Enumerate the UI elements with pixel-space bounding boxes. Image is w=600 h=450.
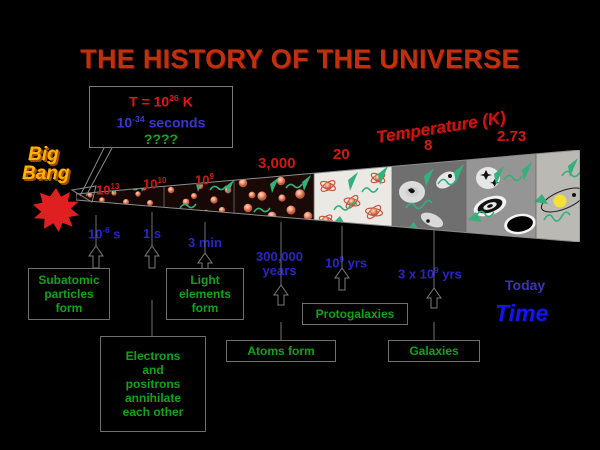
caption-line: annihilate — [123, 391, 184, 405]
time-pre: 10 — [88, 226, 102, 241]
callout-time-exponent: -34 — [132, 114, 145, 124]
caption-subatomic-particles-form: Subatomic particles form — [28, 268, 110, 320]
temp-base: 10 — [195, 172, 209, 187]
time-post: yrs — [344, 255, 367, 270]
temp-exp: 10 — [157, 176, 166, 185]
callout-temp-suffix: K — [179, 94, 193, 110]
caption-line: elements — [179, 287, 231, 301]
time-post: yrs — [439, 266, 462, 281]
caption-line: Light — [179, 273, 231, 287]
temperature-label-1e10: 1010 — [143, 176, 166, 191]
slide-canvas: THE HISTORY OF THE UNIVERSE Temperature … — [0, 0, 600, 450]
temp-base: 10 — [143, 176, 157, 191]
today-label: Today — [505, 277, 545, 293]
caption-line: form — [179, 301, 231, 315]
big-bang-line2: Bang — [22, 163, 70, 185]
callout-box: T = 1026 K 10-34 seconds ???? — [89, 86, 233, 148]
caption-line: and — [123, 363, 184, 377]
callout-temp-exponent: 26 — [169, 93, 179, 103]
caption-protogalaxies: Protogalaxies — [302, 303, 408, 325]
caption-line: Subatomic — [38, 273, 99, 287]
time-label-1e9-yrs: 109 yrs — [325, 255, 367, 270]
caption-line: Electrons — [123, 349, 184, 363]
temperature-axis-label: Temperature (K) — [375, 108, 507, 148]
cone-panel-particle-soup-mid — [164, 150, 234, 242]
temperature-label-1e13: 1013 — [96, 182, 119, 197]
caption-atoms-form: Atoms form — [226, 340, 336, 362]
time-pre: 3 x 10 — [398, 266, 434, 281]
time-label-1e-6s: 10-6 s — [88, 226, 120, 241]
time-axis-label: Time — [495, 300, 548, 327]
caption-line: each other — [123, 405, 184, 419]
time-label-3min: 3 min — [188, 235, 222, 250]
time-post: s — [110, 226, 121, 241]
time-label-3x1e9-yrs: 3 x 109 yrs — [398, 266, 462, 281]
temperature-label-3000: 3,000 — [258, 155, 296, 172]
temp-base: 10 — [96, 182, 110, 197]
callout-time-suffix: seconds — [145, 114, 206, 130]
time-exp: -6 — [102, 226, 109, 235]
caption-line: positrons — [123, 377, 184, 391]
caption-galaxies: Galaxies — [388, 340, 480, 362]
time-post: years — [256, 264, 303, 278]
caption-electrons-positrons-annihilate: Electrons and positrons annihilate each … — [100, 336, 206, 432]
temperature-label-1e9: 109 — [195, 172, 214, 187]
temp-exp: 13 — [110, 182, 119, 191]
temperature-label-8: 8 — [424, 137, 432, 154]
time-pre: 10 — [325, 255, 339, 270]
caption-light-elements-form: Light elements form — [166, 268, 244, 320]
caption-line: form — [38, 301, 99, 315]
time-label-300000-years: 300,000 years — [256, 250, 303, 278]
caption-line: particles — [38, 287, 99, 301]
callout-time-prefix: 10 — [117, 114, 133, 130]
callout-temp-prefix: T = 10 — [129, 94, 169, 110]
time-pre: 300,000 — [256, 250, 303, 264]
time-label-1s: 1 s — [143, 226, 161, 241]
temp-exp: 9 — [209, 172, 213, 181]
callout-temperature: T = 1026 K — [90, 90, 232, 111]
temperature-label-20: 20 — [333, 146, 350, 163]
callout-time: 10-34 seconds — [90, 111, 232, 132]
callout-unknown: ???? — [90, 131, 232, 148]
page-title: THE HISTORY OF THE UNIVERSE — [0, 44, 600, 75]
temperature-label-2.73: 2.73 — [497, 128, 526, 145]
